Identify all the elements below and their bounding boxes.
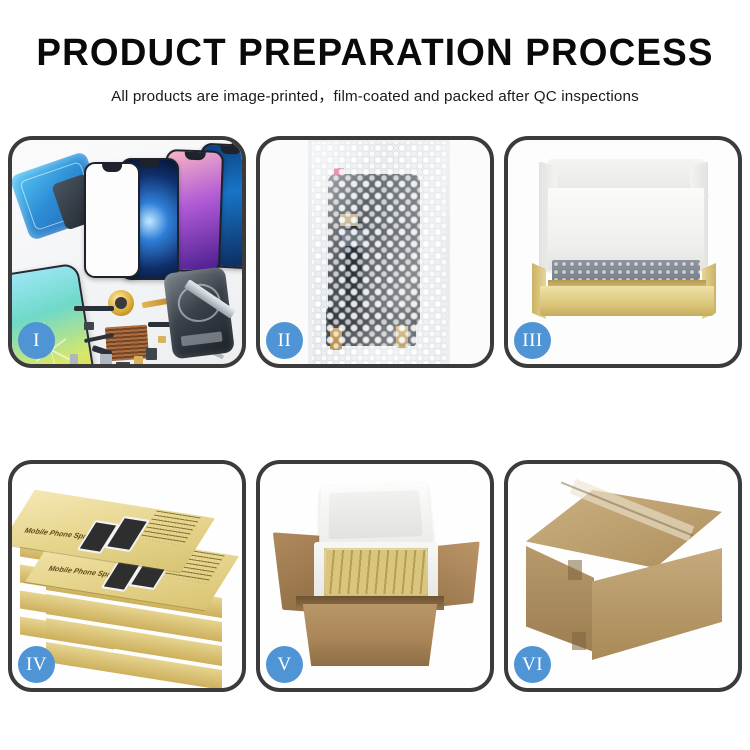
notch-icon <box>102 164 122 172</box>
notch-icon <box>220 146 242 155</box>
small-component-6 <box>70 354 78 364</box>
step-badge-3: III <box>514 322 551 359</box>
process-step-5[interactable]: V <box>256 460 494 692</box>
process-step-6[interactable]: VI <box>504 460 742 692</box>
gold-tab-right <box>396 326 408 348</box>
screen-connector <box>342 230 364 246</box>
notch-icon <box>139 160 160 168</box>
page-title: PRODUCT PREPARATION PROCESS <box>11 34 739 72</box>
phone-screen-1 <box>84 162 140 278</box>
carton-tab-upper <box>568 560 582 580</box>
process-step-4[interactable]: Mobile Phone Spare Parts Mobile Phone Sp… <box>8 460 246 692</box>
stacked-box-slats <box>326 550 426 594</box>
styrofoam-lid <box>319 483 433 548</box>
yellow-box-stack: Mobile Phone Spare Parts Mobile Phone Sp… <box>18 488 242 678</box>
step-badge-5: V <box>266 646 303 683</box>
small-component-1 <box>84 322 94 330</box>
step-badge-6: VI <box>514 646 551 683</box>
notch-icon <box>185 152 206 161</box>
yellow-boxes-inside <box>324 548 428 596</box>
printed-box-1: Mobile Phone Spare Parts <box>18 504 198 558</box>
gold-tab-left <box>330 328 342 350</box>
step-badge-2: II <box>266 322 303 359</box>
small-component-4 <box>134 356 143 364</box>
speaker-coil-part <box>108 290 134 316</box>
process-step-3[interactable]: III <box>504 136 742 368</box>
small-component-2 <box>100 354 112 364</box>
process-step-1[interactable]: I <box>8 136 246 368</box>
small-component-5 <box>146 348 157 360</box>
process-step-2[interactable]: II <box>256 136 494 368</box>
small-component-7 <box>158 336 166 343</box>
yellow-tray-front <box>540 286 714 316</box>
lcd-screen-assembly <box>328 174 420 326</box>
step-badge-1: I <box>18 322 55 359</box>
page-header: PRODUCT PREPARATION PROCESS All products… <box>0 0 750 106</box>
page-subtitle: All products are image-printed，film-coat… <box>0 84 750 106</box>
adhesive-tape-patch <box>340 214 358 226</box>
carton-front-face <box>300 604 440 666</box>
flex-cable-1 <box>74 306 114 311</box>
pink-label-sticker <box>334 168 344 175</box>
step-badge-4: IV <box>18 646 55 683</box>
small-component-3 <box>116 362 130 364</box>
process-step-grid: I II <box>8 136 742 692</box>
battery-bar-icon <box>181 331 223 346</box>
carton-tab-lower <box>572 632 586 650</box>
white-lid-inner-face <box>548 188 704 270</box>
